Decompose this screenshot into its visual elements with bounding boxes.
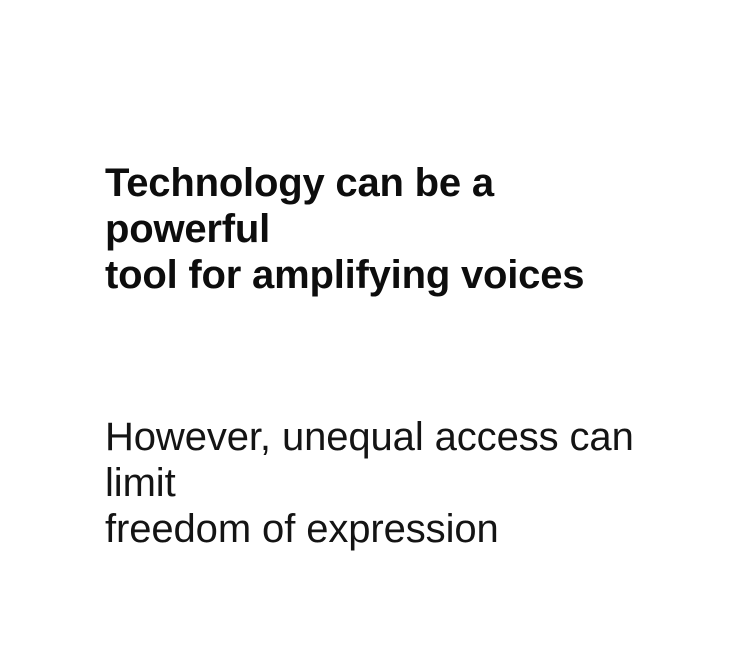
slide-heading: Technology can be a powerful tool for am… xyxy=(105,160,645,298)
slide-canvas: Technology can be a powerful tool for am… xyxy=(0,0,750,650)
slide-body-text: However, unequal access can limit freedo… xyxy=(105,414,665,552)
